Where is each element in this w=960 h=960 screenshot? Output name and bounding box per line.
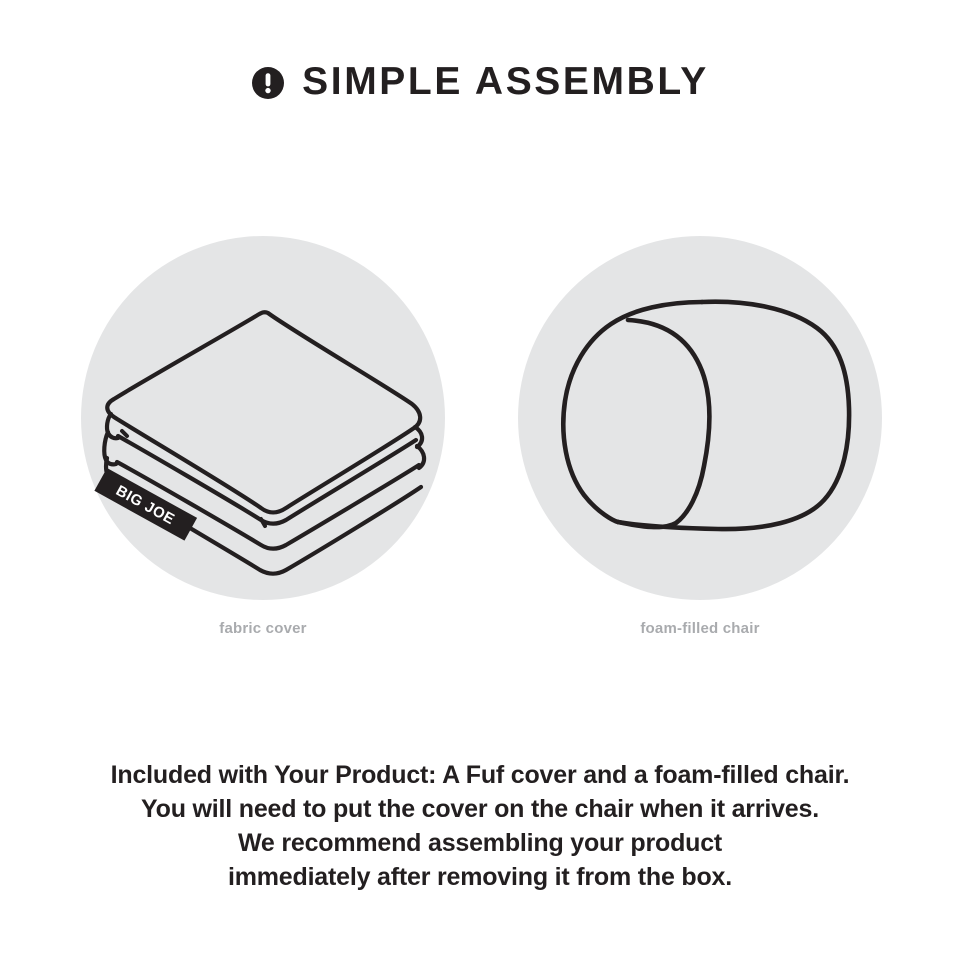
panel-foam-filled-chair: foam-filled chair (518, 236, 882, 646)
illustration-panels: BIG JOE fabric cover foam-filled chair (0, 236, 960, 656)
page-header: SIMPLE ASSEMBLY (0, 62, 960, 101)
caption-foam-filled-chair: foam-filled chair (518, 620, 882, 637)
cover-crease-tick-left (122, 431, 127, 436)
chair-body-outline-right (618, 302, 849, 529)
footer-copy: Included with Your Product: A Fuf cover … (0, 758, 960, 894)
caption-fabric-cover: fabric cover (81, 620, 445, 637)
folded-fabric-cover-illustration: BIG JOE (81, 236, 445, 600)
footer-line-1: Included with Your Product: A Fuf cover … (0, 758, 960, 792)
footer-line-3: We recommend assembling your product (0, 826, 960, 860)
exclamation-circle-icon (251, 66, 285, 100)
cover-right-edge-upper (415, 427, 422, 447)
page-title: SIMPLE ASSEMBLY (302, 62, 709, 101)
chair-body-outline-left (563, 302, 702, 522)
foam-filled-chair-illustration (518, 236, 882, 600)
footer-line-2: You will need to put the cover on the ch… (0, 792, 960, 826)
chair-seam-line (618, 320, 709, 527)
footer-line-4: immediately after removing it from the b… (0, 860, 960, 894)
panel-fabric-cover: BIG JOE fabric cover (81, 236, 445, 646)
